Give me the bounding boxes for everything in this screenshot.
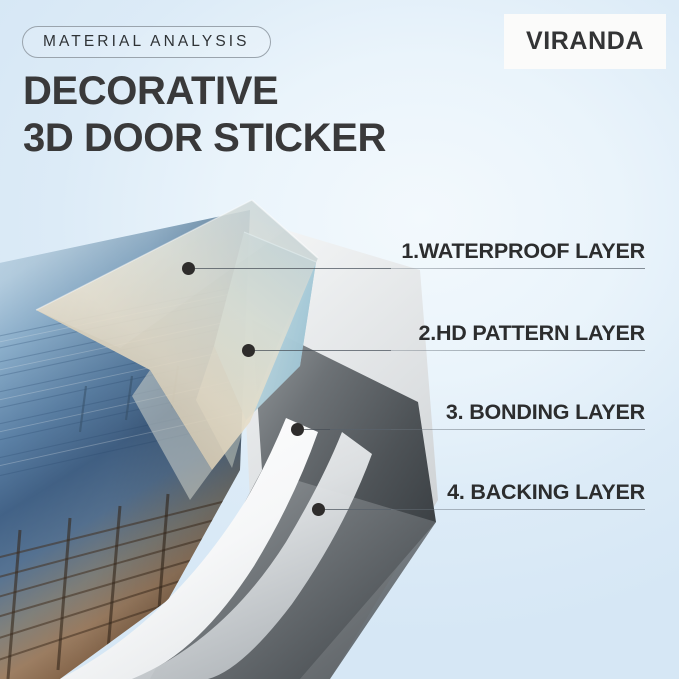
callout-dot-bonding xyxy=(291,423,304,436)
callout-label-waterproof: 1.WATERPROOF LAYER xyxy=(401,239,645,264)
page-title-line-2: 3D DOOR STICKER xyxy=(23,115,483,162)
callout-label-bonding: 3. BONDING LAYER xyxy=(446,400,645,425)
page-title: DECORATIVE 3D DOOR STICKER xyxy=(23,68,483,162)
callout-bonding: 3. BONDING LAYER xyxy=(330,396,645,430)
callout-hd-pattern: 2.HD PATTERN LAYER xyxy=(330,317,645,351)
callout-rule-waterproof xyxy=(330,268,645,269)
material-analysis-badge: MATERIAL ANALYSIS xyxy=(22,26,271,58)
brand-logo: VIRANDA xyxy=(504,14,666,69)
callout-rule-bonding xyxy=(330,429,645,430)
callout-label-hd-pattern: 2.HD PATTERN LAYER xyxy=(418,321,645,346)
callout-waterproof: 1.WATERPROOF LAYER xyxy=(330,235,645,269)
page-title-line-1: DECORATIVE xyxy=(23,68,483,115)
callout-label-backing: 4. BACKING LAYER xyxy=(447,480,645,505)
callout-dot-waterproof xyxy=(182,262,195,275)
callout-dot-hd-pattern xyxy=(242,344,255,357)
badge-label: MATERIAL ANALYSIS xyxy=(43,33,250,51)
brand-name: VIRANDA xyxy=(526,27,644,56)
callout-backing: 4. BACKING LAYER xyxy=(330,476,645,510)
callout-dot-backing xyxy=(312,503,325,516)
callout-rule-hd-pattern xyxy=(330,350,645,351)
callout-rule-backing xyxy=(330,509,645,510)
poster-canvas: MATERIAL ANALYSIS DECORATIVE 3D DOOR STI… xyxy=(0,0,679,679)
